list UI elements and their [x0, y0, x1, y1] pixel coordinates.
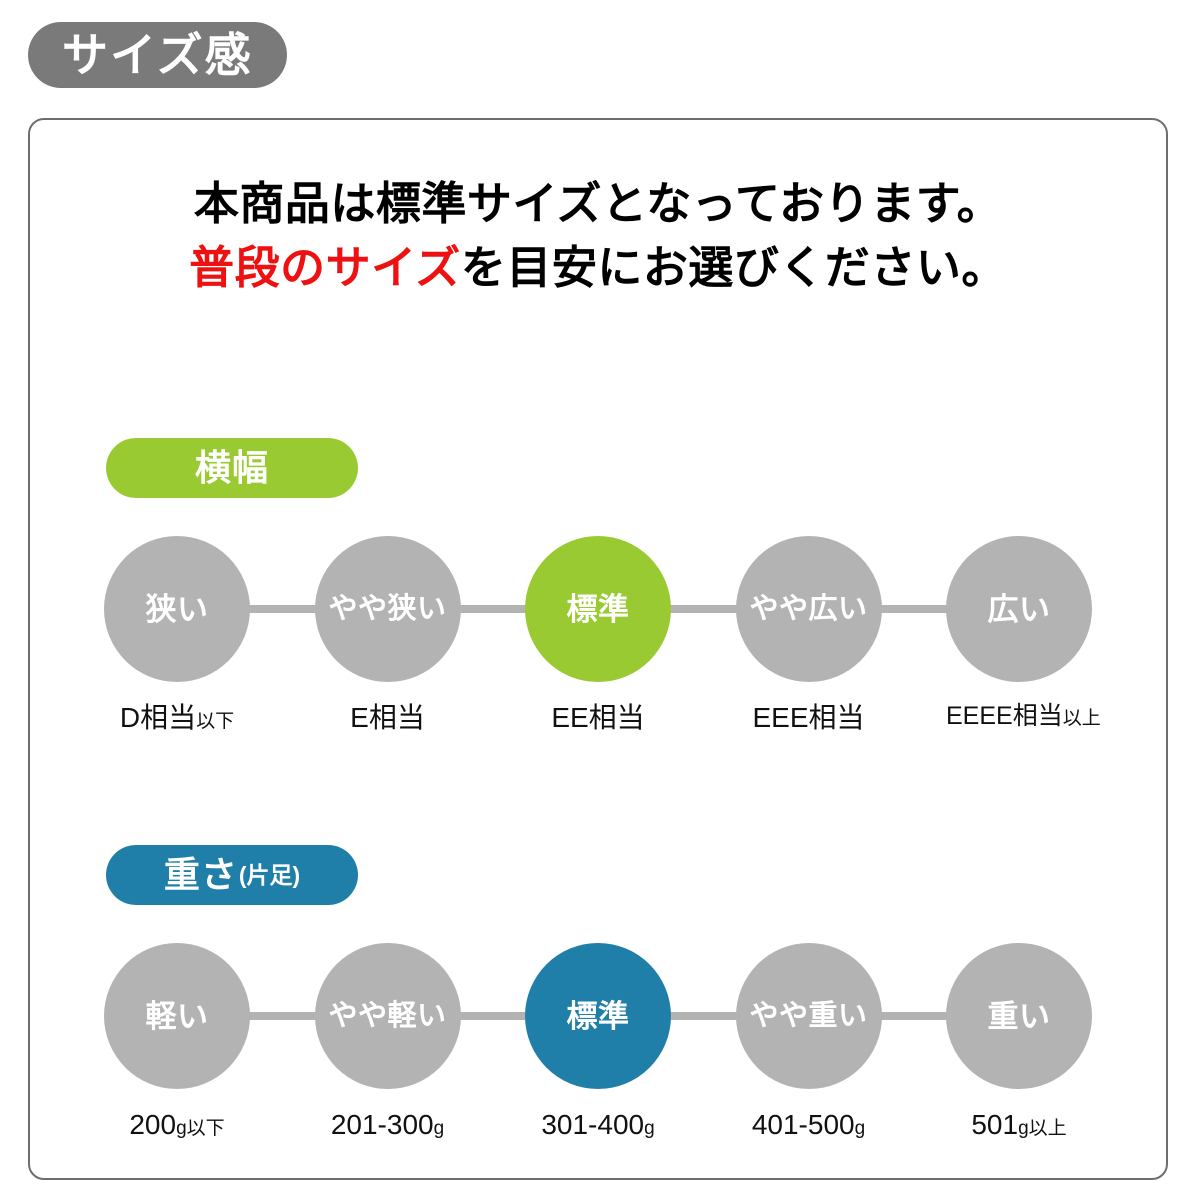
width-node-narrow[interactable]: 狭い	[104, 536, 250, 682]
weight-node-slightly-light-label: やや軽い	[328, 1002, 446, 1031]
weight-caption-4-main: 501	[971, 1109, 1018, 1140]
weight-node-list: 軽い やや軽い 標準 やや重い 重い	[30, 943, 1166, 1089]
width-caption-0-suffix: 以下	[196, 711, 234, 732]
width-caption-2: EE相当	[525, 704, 671, 732]
weight-node-light[interactable]: 軽い	[104, 943, 250, 1089]
headline-line-1: 本商品は標準サイズとなっております。	[30, 172, 1166, 236]
weight-caption-0-main: 200	[129, 1109, 176, 1140]
weight-caption-3: 401-500g	[736, 1111, 882, 1139]
weight-caption-1: 201-300g	[315, 1111, 461, 1139]
size-info-card: 本商品は標準サイズとなっております。 普段のサイズを目安にお選びください。 横幅…	[28, 118, 1168, 1180]
width-node-slightly-narrow[interactable]: やや狭い	[315, 536, 461, 682]
headline-line-2-rest: を目安にお選びください。	[461, 242, 1007, 293]
width-caption-4: EEEE相当以上	[946, 704, 1092, 732]
section-weight: 重さ(片足) 軽い やや軽い 標準 やや重い 重い	[30, 845, 1166, 1139]
width-caption-2-main: EE相当	[551, 702, 644, 733]
weight-caption-0-suffix: 以下	[187, 1118, 225, 1139]
weight-node-slightly-heavy-label: やや重い	[749, 1002, 867, 1031]
weight-node-slightly-light[interactable]: やや軽い	[315, 943, 461, 1089]
width-node-slightly-narrow-label: やや狭い	[328, 595, 446, 624]
weight-node-heavy[interactable]: 重い	[946, 943, 1092, 1089]
headline-emphasis: 普段のサイズ	[189, 242, 461, 293]
section-badge-weight: 重さ(片足)	[106, 845, 358, 905]
weight-node-standard-label: 標準	[567, 1001, 630, 1032]
width-scale: 狭い やや狭い 標準 やや広い 広い	[30, 536, 1166, 682]
width-node-wide-label: 広い	[988, 594, 1051, 625]
weight-caption-2-main: 301-400	[541, 1109, 644, 1140]
width-caption-list: D相当以下 E相当 EE相当 EEE相当 EEEE相当以上	[30, 704, 1166, 732]
weight-caption-0-unit: g	[176, 1118, 187, 1139]
weight-caption-4-unit: g	[1018, 1118, 1029, 1139]
weight-node-standard[interactable]: 標準	[525, 943, 671, 1089]
width-caption-3-main: EEE相当	[752, 702, 864, 733]
section-badge-width-label: 横幅	[195, 450, 269, 486]
width-caption-0: D相当以下	[104, 704, 250, 732]
width-node-slightly-wide[interactable]: やや広い	[736, 536, 882, 682]
weight-caption-1-main: 201-300	[331, 1109, 434, 1140]
weight-scale: 軽い やや軽い 標準 やや重い 重い	[30, 943, 1166, 1089]
weight-node-slightly-heavy[interactable]: やや重い	[736, 943, 882, 1089]
weight-node-heavy-label: 重い	[988, 1001, 1051, 1032]
width-node-standard[interactable]: 標準	[525, 536, 671, 682]
headline-line-2: 普段のサイズを目安にお選びください。	[30, 236, 1166, 300]
weight-caption-2: 301-400g	[525, 1111, 671, 1139]
width-caption-0-main: D相当	[120, 702, 196, 733]
width-node-slightly-wide-label: やや広い	[749, 595, 867, 624]
section-badge-weight-label: 重さ	[164, 857, 238, 893]
weight-caption-2-unit: g	[644, 1118, 655, 1139]
width-node-wide[interactable]: 広い	[946, 536, 1092, 682]
weight-caption-0: 200g以下	[104, 1111, 250, 1139]
page-header-badge: サイズ感	[28, 22, 287, 88]
section-badge-weight-sub: (片足)	[239, 864, 300, 887]
weight-caption-3-unit: g	[855, 1118, 866, 1139]
width-caption-3: EEE相当	[736, 704, 882, 732]
weight-caption-4: 501g以上	[946, 1111, 1092, 1139]
width-caption-4-suffix: 以上	[1063, 708, 1101, 729]
weight-caption-1-unit: g	[434, 1118, 445, 1139]
width-node-standard-label: 標準	[567, 594, 630, 625]
weight-caption-list: 200g以下 201-300g 301-400g 401-500g 501g以上	[30, 1111, 1166, 1139]
width-caption-4-main: EEEE相当	[946, 702, 1063, 730]
width-caption-1: E相当	[315, 704, 461, 732]
page-title: サイズ感	[62, 32, 253, 78]
weight-node-light-label: 軽い	[146, 1001, 209, 1032]
section-width: 横幅 狭い やや狭い 標準 やや広い 広い	[30, 438, 1166, 732]
width-node-narrow-label: 狭い	[146, 594, 209, 625]
weight-caption-3-main: 401-500	[752, 1109, 855, 1140]
width-caption-1-main: E相当	[350, 702, 425, 733]
headline-block: 本商品は標準サイズとなっております。 普段のサイズを目安にお選びください。	[30, 172, 1166, 300]
section-badge-width: 横幅	[106, 438, 358, 498]
width-node-list: 狭い やや狭い 標準 やや広い 広い	[30, 536, 1166, 682]
weight-caption-4-suffix: 以上	[1029, 1118, 1067, 1139]
